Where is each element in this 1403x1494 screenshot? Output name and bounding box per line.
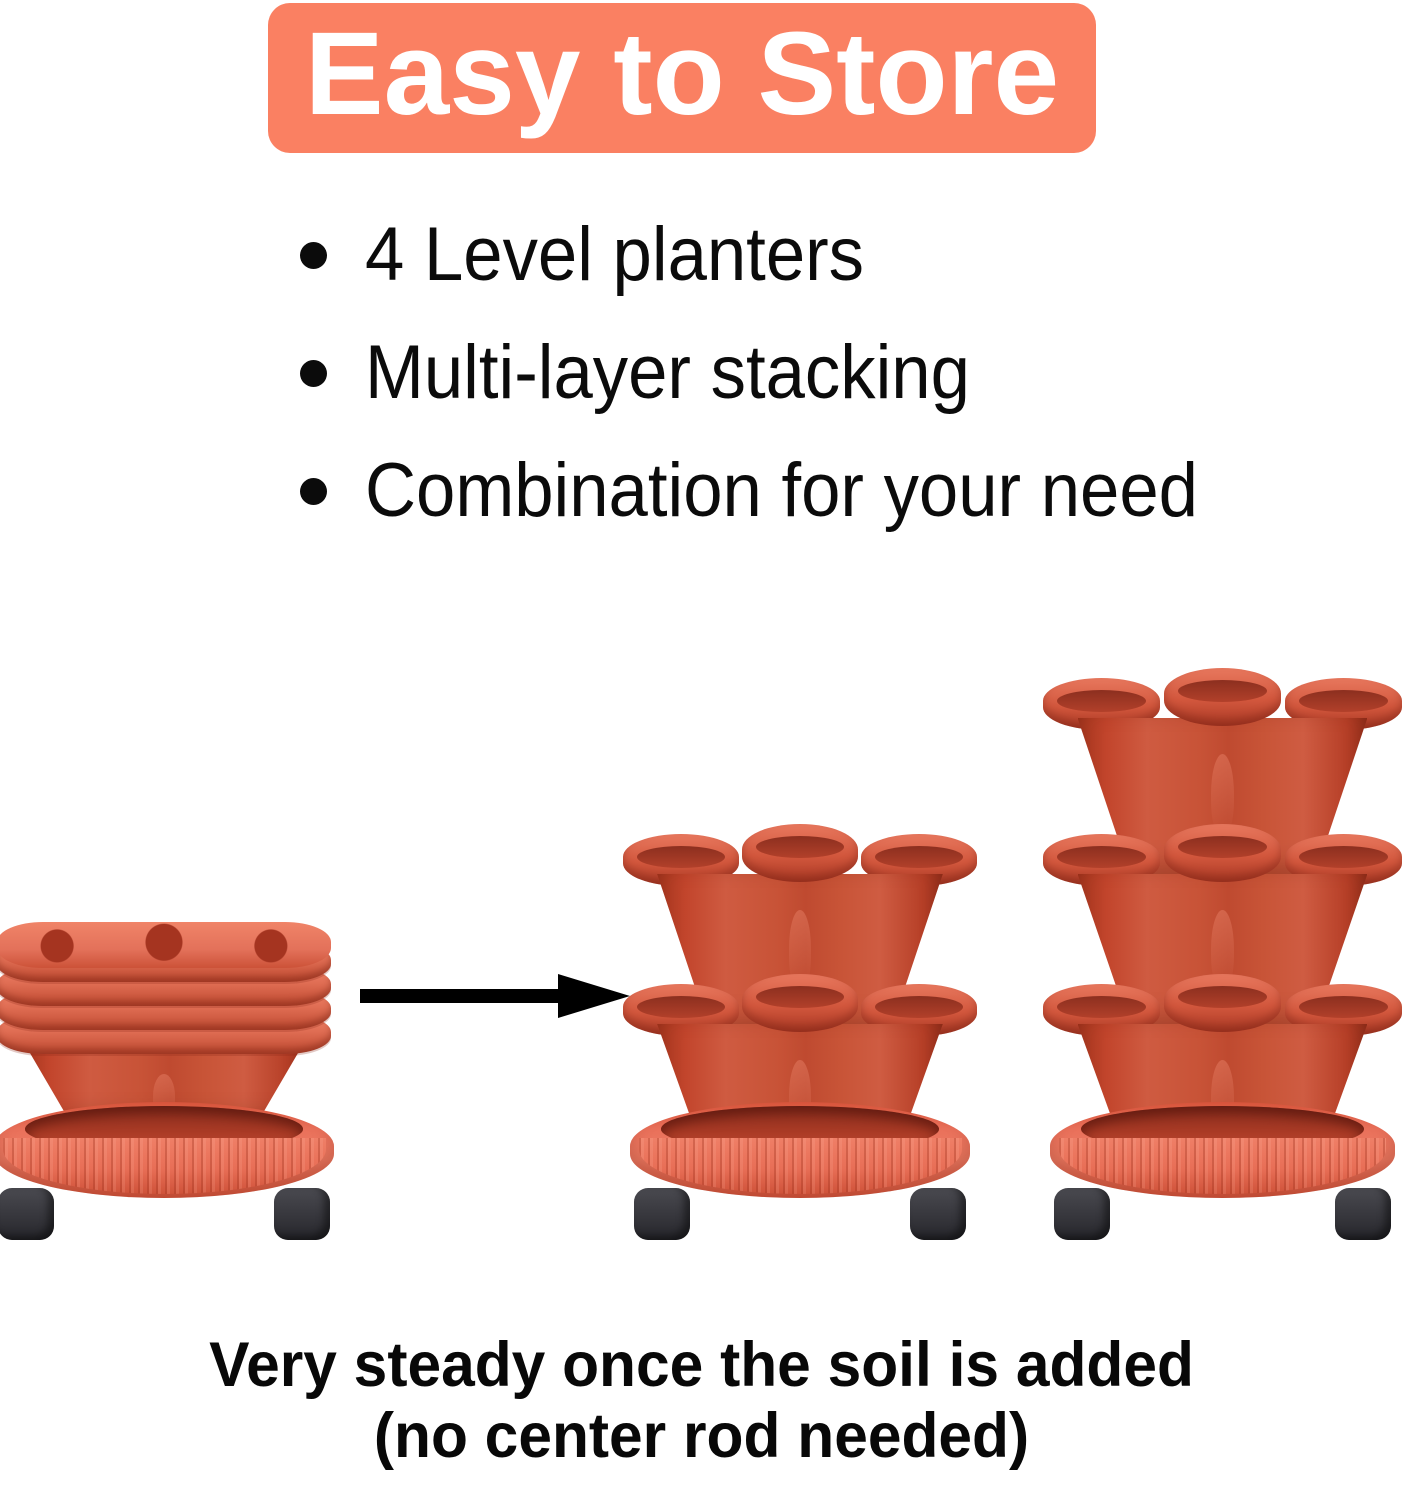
feature-item-label: Multi-layer stacking bbox=[365, 335, 970, 411]
planter-pocket-lobe bbox=[1164, 824, 1281, 882]
pocket-cup bbox=[1299, 846, 1388, 868]
caster-wheel-icon bbox=[634, 1188, 690, 1240]
pocket-cup bbox=[1057, 996, 1146, 1018]
pocket-cup bbox=[1299, 996, 1388, 1018]
feature-item-label: 4 Level planters bbox=[365, 217, 864, 293]
planter-pocket-lobe bbox=[1164, 668, 1281, 726]
planter-stack-two-tier bbox=[630, 830, 970, 1240]
flow-arrow-icon bbox=[360, 968, 630, 1024]
pocket-cup bbox=[875, 996, 963, 1018]
caption-line-2: (no center rod needed) bbox=[28, 1401, 1375, 1472]
pocket-cup bbox=[1178, 680, 1267, 702]
pocket-cup bbox=[756, 836, 844, 858]
bullet-dot-icon bbox=[300, 360, 327, 387]
headline-title: Easy to Store bbox=[305, 15, 1059, 141]
bullet-dot-icon bbox=[300, 242, 327, 269]
caption-line-1: Very steady once the soil is added bbox=[28, 1330, 1375, 1401]
planter-pocket-lobe bbox=[742, 824, 858, 882]
caster-wheel-icon bbox=[0, 1188, 54, 1240]
pocket-cup bbox=[1057, 690, 1146, 712]
pocket-cup bbox=[875, 846, 963, 868]
feature-list: 4 Level planters Multi-layer stacking Co… bbox=[300, 196, 1360, 550]
nested-rim-group bbox=[0, 922, 334, 1050]
pocket-cup bbox=[756, 986, 844, 1008]
planter-stack-three-tier bbox=[1050, 670, 1395, 1240]
bullet-dot-icon bbox=[300, 478, 327, 505]
caster-wheel-icon bbox=[1335, 1188, 1391, 1240]
nested-top-rim-profile bbox=[0, 922, 331, 968]
pocket-cup bbox=[637, 846, 725, 868]
pocket-cup bbox=[1178, 986, 1267, 1008]
caster-wheel-icon bbox=[1054, 1188, 1110, 1240]
pocket-cup bbox=[1057, 846, 1146, 868]
pocket-cup bbox=[1299, 690, 1388, 712]
rolling-caddy bbox=[630, 1080, 970, 1240]
pocket-cup bbox=[1178, 836, 1267, 858]
planter-pocket-lobe bbox=[1164, 974, 1281, 1032]
feature-item: 4 Level planters bbox=[300, 196, 1360, 314]
product-scene bbox=[0, 620, 1403, 1240]
feature-item-label: Combination for your need bbox=[365, 453, 1198, 529]
planter-pocket-lobe bbox=[742, 974, 858, 1032]
pot-flute bbox=[1211, 754, 1234, 835]
rolling-caddy bbox=[1050, 1080, 1395, 1240]
planter-stack-nested bbox=[0, 920, 334, 1240]
rolling-caddy bbox=[0, 1080, 334, 1240]
feature-item: Combination for your need bbox=[300, 432, 1360, 550]
bottom-caption: Very steady once the soil is added (no c… bbox=[0, 1330, 1403, 1471]
feature-item: Multi-layer stacking bbox=[300, 314, 1360, 432]
pocket-cup bbox=[637, 996, 725, 1018]
caster-wheel-icon bbox=[910, 1188, 966, 1240]
caster-wheel-icon bbox=[274, 1188, 330, 1240]
headline-badge: Easy to Store bbox=[268, 3, 1096, 153]
